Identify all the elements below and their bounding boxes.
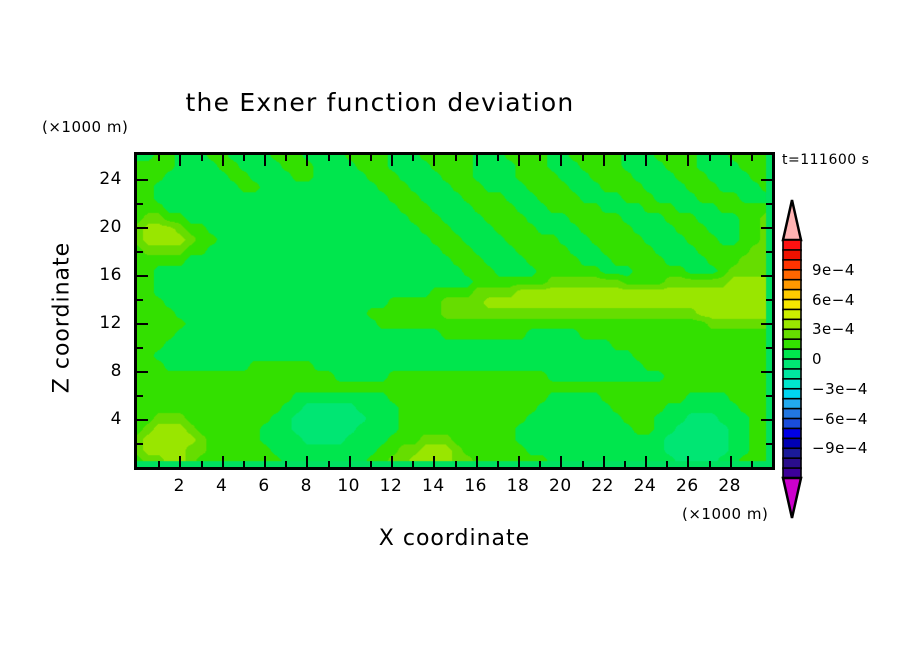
colorbar-tick-label: −3e−4 (812, 380, 868, 398)
colorbar-tick-label: 0 (812, 350, 822, 368)
x-major-tick (730, 155, 732, 166)
x-major-tick (391, 456, 393, 467)
y-major-tick (137, 371, 148, 373)
y-minor-tick (766, 251, 772, 253)
contour-plot-area[interactable] (134, 152, 775, 470)
x-minor-tick (455, 461, 457, 467)
y-major-tick (137, 275, 148, 277)
x-major-tick (306, 456, 308, 467)
y-major-tick (137, 323, 148, 325)
x-tick-label: 4 (202, 476, 242, 496)
y-minor-tick (137, 251, 143, 253)
x-major-tick (645, 456, 647, 467)
colorbar-band (783, 270, 801, 281)
colorbar-band (783, 329, 801, 340)
x-minor-tick (666, 155, 668, 161)
x-major-tick (306, 155, 308, 166)
colorbar-band (783, 448, 801, 459)
y-major-tick (761, 323, 772, 325)
x-minor-tick (158, 155, 160, 161)
y-axis-units-label: (×1000 m) (42, 118, 128, 136)
colorbar-band (783, 339, 801, 350)
colorbar-under-cap (783, 478, 801, 518)
y-major-tick (137, 227, 148, 229)
x-major-tick (264, 456, 266, 467)
x-minor-tick (497, 155, 499, 161)
colorbar[interactable] (779, 198, 805, 520)
x-major-tick (349, 155, 351, 166)
colorbar-over-cap (783, 200, 801, 240)
colorbar-band (783, 349, 801, 360)
x-tick-label: 8 (286, 476, 326, 496)
y-major-tick (761, 179, 772, 181)
colorbar-tick-label: 6e−4 (812, 291, 855, 309)
y-minor-tick (137, 299, 143, 301)
colorbar-band (783, 250, 801, 261)
colorbar-band (783, 419, 801, 430)
x-tick-label: 18 (498, 476, 538, 496)
x-minor-tick (497, 461, 499, 467)
colorbar-band (783, 319, 801, 330)
y-minor-tick (766, 347, 772, 349)
colorbar-band (783, 290, 801, 301)
y-major-tick (137, 419, 148, 421)
x-minor-tick (709, 155, 711, 161)
y-major-tick (761, 419, 772, 421)
colorbar-band (783, 458, 801, 469)
x-minor-tick (582, 461, 584, 467)
colorbar-band (783, 240, 801, 251)
x-major-tick (264, 155, 266, 166)
x-minor-tick (666, 461, 668, 467)
x-major-tick (730, 456, 732, 467)
colorbar-band (783, 369, 801, 380)
x-major-tick (518, 456, 520, 467)
contour-field (137, 155, 772, 467)
x-minor-tick (412, 461, 414, 467)
x-major-tick (518, 155, 520, 166)
x-major-tick (349, 456, 351, 467)
x-major-tick (645, 155, 647, 166)
colorbar-gradient (779, 198, 805, 520)
y-major-tick (761, 371, 772, 373)
x-major-tick (433, 155, 435, 166)
x-minor-tick (285, 155, 287, 161)
x-axis-title: X coordinate (134, 526, 775, 551)
x-tick-label: 2 (159, 476, 199, 496)
x-minor-tick (751, 155, 753, 161)
x-tick-label: 16 (456, 476, 496, 496)
colorbar-band (783, 389, 801, 400)
x-major-tick (179, 456, 181, 467)
time-annotation: t=111600 s (782, 152, 869, 168)
x-minor-tick (370, 461, 372, 467)
x-axis-units-label: (×1000 m) (682, 505, 768, 523)
y-minor-tick (137, 443, 143, 445)
x-minor-tick (539, 155, 541, 161)
x-minor-tick (328, 155, 330, 161)
x-major-tick (476, 155, 478, 166)
x-major-tick (687, 155, 689, 166)
y-major-tick (761, 275, 772, 277)
y-minor-tick (766, 443, 772, 445)
x-minor-tick (328, 461, 330, 467)
x-major-tick (476, 456, 478, 467)
colorbar-band (783, 379, 801, 390)
x-major-tick (603, 456, 605, 467)
x-tick-label: 6 (244, 476, 284, 496)
page-title: the Exner function deviation (0, 88, 760, 117)
colorbar-tick-label: 9e−4 (812, 261, 855, 279)
x-tick-label: 24 (625, 476, 665, 496)
y-major-tick (761, 227, 772, 229)
x-tick-label: 28 (710, 476, 750, 496)
x-major-tick (687, 456, 689, 467)
y-minor-tick (766, 395, 772, 397)
x-minor-tick (285, 461, 287, 467)
colorbar-band (783, 260, 801, 271)
x-minor-tick (582, 155, 584, 161)
x-tick-label: 26 (667, 476, 707, 496)
colorbar-band (783, 399, 801, 410)
y-axis-title: Z coordinate (50, 218, 75, 418)
colorbar-tick-label: 3e−4 (812, 320, 855, 338)
x-major-tick (222, 456, 224, 467)
x-major-tick (179, 155, 181, 166)
x-tick-label: 22 (583, 476, 623, 496)
colorbar-tick-label: −6e−4 (812, 410, 868, 428)
y-minor-tick (137, 347, 143, 349)
x-major-tick (222, 155, 224, 166)
y-minor-tick (766, 203, 772, 205)
y-tick-label: 8 (88, 361, 122, 381)
x-minor-tick (158, 461, 160, 467)
y-tick-label: 24 (88, 169, 122, 189)
y-minor-tick (766, 299, 772, 301)
x-minor-tick (624, 155, 626, 161)
colorbar-tick-label: −9e−4 (812, 439, 868, 457)
x-minor-tick (624, 461, 626, 467)
x-tick-label: 12 (371, 476, 411, 496)
colorbar-band (783, 309, 801, 320)
figure-canvas: the Exner function deviation (×1000 m) t… (0, 0, 904, 654)
x-minor-tick (751, 461, 753, 467)
x-minor-tick (455, 155, 457, 161)
y-tick-label: 16 (88, 265, 122, 285)
y-tick-label: 12 (88, 313, 122, 333)
y-tick-label: 20 (88, 217, 122, 237)
colorbar-band (783, 409, 801, 420)
y-minor-tick (137, 395, 143, 397)
x-minor-tick (243, 155, 245, 161)
x-major-tick (560, 456, 562, 467)
x-minor-tick (201, 155, 203, 161)
x-minor-tick (370, 155, 372, 161)
colorbar-band (783, 438, 801, 449)
x-minor-tick (201, 461, 203, 467)
colorbar-band (783, 280, 801, 291)
x-minor-tick (539, 461, 541, 467)
y-minor-tick (137, 203, 143, 205)
x-tick-label: 14 (413, 476, 453, 496)
y-major-tick (137, 179, 148, 181)
x-tick-label: 20 (540, 476, 580, 496)
colorbar-band (783, 428, 801, 439)
x-minor-tick (243, 461, 245, 467)
x-major-tick (603, 155, 605, 166)
x-major-tick (433, 456, 435, 467)
colorbar-band (783, 300, 801, 311)
x-minor-tick (412, 155, 414, 161)
x-major-tick (391, 155, 393, 166)
y-tick-label: 4 (88, 409, 122, 429)
colorbar-band (783, 359, 801, 370)
x-minor-tick (709, 461, 711, 467)
x-major-tick (560, 155, 562, 166)
x-tick-label: 10 (329, 476, 369, 496)
